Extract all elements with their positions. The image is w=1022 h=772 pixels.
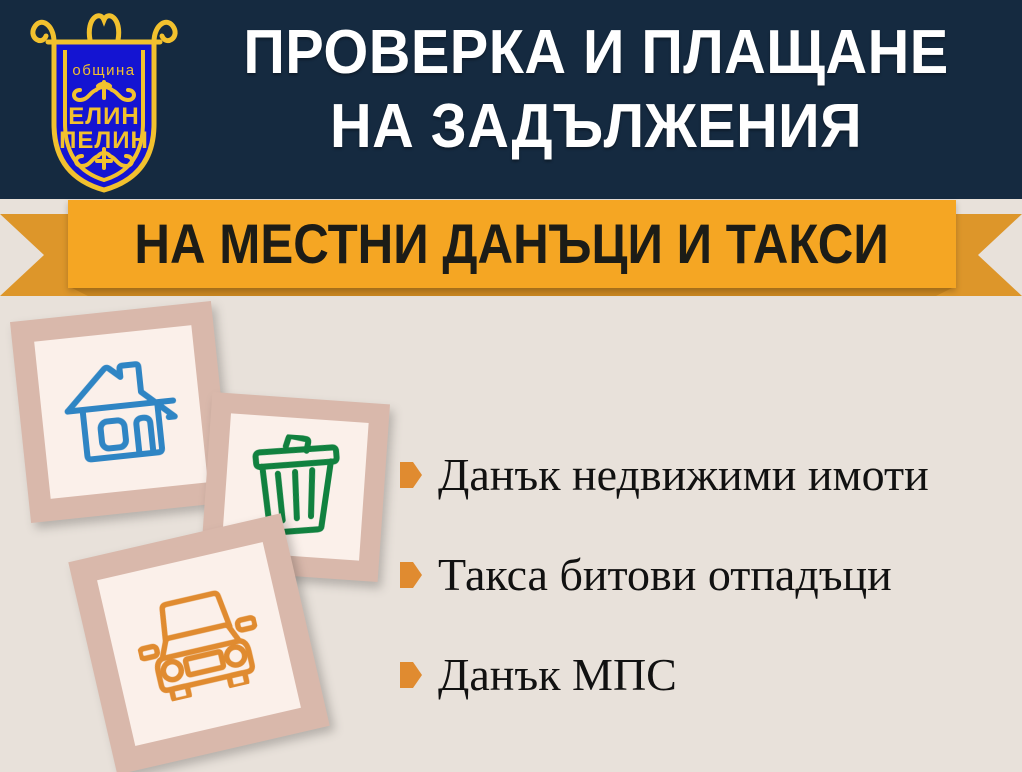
svg-text:ЕЛИН: ЕЛИН bbox=[68, 103, 139, 130]
municipality-logo: община ЕЛИН ПЕЛИН bbox=[24, 6, 184, 194]
list-item-label: Данък МПС bbox=[438, 650, 677, 700]
house-icon bbox=[57, 352, 186, 472]
tax-type-list: Данък недвижими имоти Такса битови отпад… bbox=[400, 425, 1010, 725]
list-item-label: Данък недвижими имоти bbox=[438, 450, 929, 500]
stamp-paper-house bbox=[34, 325, 208, 499]
page-title-line-2: НА ЗАДЪЛЖЕНИЯ bbox=[215, 90, 978, 164]
header-banner: община ЕЛИН ПЕЛИН ПРОВЕРКА И ПЛАЩАНЕ НА … bbox=[0, 0, 1022, 199]
coat-of-arms-icon: община ЕЛИН ПЕЛИН bbox=[24, 6, 184, 194]
arrow-bullet-icon bbox=[400, 662, 422, 688]
list-item[interactable]: Данък МПС bbox=[400, 625, 1010, 725]
arrow-bullet-icon bbox=[400, 462, 422, 488]
arrow-bullet-icon bbox=[400, 562, 422, 588]
svg-text:ПЕЛИН: ПЕЛИН bbox=[59, 127, 149, 154]
page-title-line-1: ПРОВЕРКА И ПЛАЩАНЕ bbox=[215, 16, 978, 90]
subtitle-ribbon: НА МЕСТНИ ДАНЪЦИ И ТАКСИ bbox=[0, 198, 1022, 306]
stamp-card-house bbox=[10, 301, 232, 523]
page-title: ПРОВЕРКА И ПЛАЩАНЕ НА ЗАДЪЛЖЕНИЯ bbox=[215, 16, 978, 164]
list-item-label: Такса битови отпадъци bbox=[438, 550, 892, 600]
svg-text:община: община bbox=[72, 62, 135, 79]
ribbon-body: НА МЕСТНИ ДАНЪЦИ И ТАКСИ bbox=[68, 200, 956, 288]
ribbon-label: НА МЕСТНИ ДАНЪЦИ И ТАКСИ bbox=[135, 215, 889, 273]
poster-root: община ЕЛИН ПЕЛИН ПРОВЕРКА И ПЛАЩАНЕ НА … bbox=[0, 0, 1022, 772]
list-item[interactable]: Такса битови отпадъци bbox=[400, 525, 1010, 625]
car-icon bbox=[128, 582, 269, 707]
list-item[interactable]: Данък недвижими имоти bbox=[400, 425, 1010, 525]
